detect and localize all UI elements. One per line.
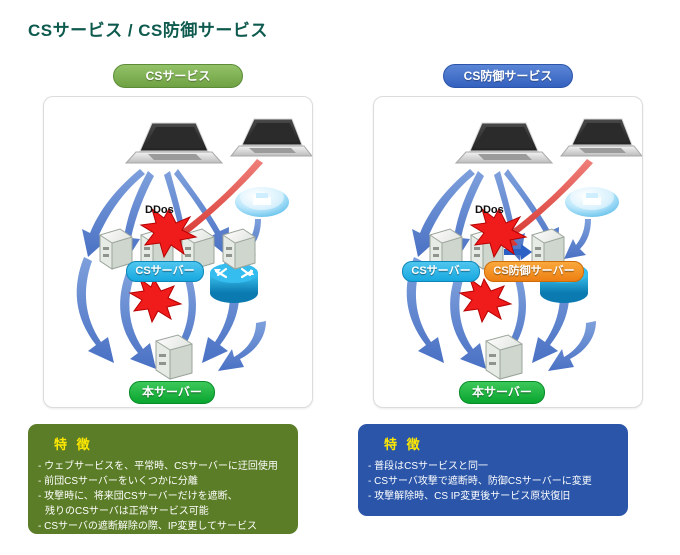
feature-list-cs-service: - ウェブサービスを、平常時、CSサーバーに迂回使用 - 前団CSサーバーをいく… bbox=[38, 459, 288, 534]
network-cloud-icon bbox=[235, 184, 289, 217]
client-laptop-normal bbox=[456, 123, 552, 163]
main-server-label: 本サーバー bbox=[459, 381, 545, 404]
feature-item: - 前団CSサーバーをいくつかに分離 bbox=[38, 474, 288, 489]
feature-title: 特 徴 bbox=[384, 434, 618, 453]
ddos-label: DDos bbox=[145, 204, 174, 216]
ddos-burst-lower bbox=[460, 279, 511, 322]
network-cloud-icon bbox=[565, 184, 619, 217]
panel-header-cs-service: CSサービス bbox=[113, 64, 243, 88]
feature-item: 残りのCSサーバは正常サービス可能 bbox=[38, 504, 288, 519]
feature-item: - 普段はCSサービスと同一 bbox=[368, 459, 618, 474]
ddos-label: DDos bbox=[475, 204, 504, 216]
attacker-laptop bbox=[561, 119, 642, 156]
client-laptop-normal bbox=[126, 123, 222, 163]
feature-item: - 攻撃時に、将来団CSサーバーだけを遮断、 bbox=[38, 489, 288, 504]
panel-cs-service: CSサービス bbox=[28, 64, 328, 408]
main-server-icon bbox=[156, 335, 192, 379]
feature-box-cs-defense-service: 特 徴 - 普段はCSサービスと同一 - CSサーバ攻撃で遮断時、防御CSサーバ… bbox=[358, 424, 628, 516]
panel-header-cs-defense-service: CS防御サービス bbox=[443, 64, 573, 88]
feature-item: - ウェブサービスを、平常時、CSサーバーに迂回使用 bbox=[38, 459, 288, 474]
feature-list-cs-defense-service: - 普段はCSサービスと同一 - CSサーバ攻撃で遮断時、防御CSサーバーに変更… bbox=[368, 459, 618, 504]
main-server-label: 本サーバー bbox=[129, 381, 215, 404]
feature-item: - CSサーバ攻撃で遮断時、防御CSサーバーに変更 bbox=[368, 474, 618, 489]
cs-defense-server-label: CS防御サーバー bbox=[484, 261, 584, 282]
server-stack bbox=[223, 229, 255, 269]
feature-title: 特 徴 bbox=[54, 434, 288, 453]
feature-item: - CSサーバの遮断解除の際、IP変更してサービス bbox=[38, 519, 288, 534]
ddos-burst-lower bbox=[130, 279, 181, 322]
cs-server-label: CSサーバー bbox=[126, 261, 204, 282]
cs-server-label: CSサーバー bbox=[402, 261, 480, 282]
feature-item: - 攻撃解除時、CS IP変更後サービス原状復旧 bbox=[368, 489, 618, 504]
router-icon bbox=[210, 263, 258, 303]
main-server-icon bbox=[486, 335, 522, 379]
diagram-cs-defense-service: DDos CSサーバー CS防御サーバー 本サーバー bbox=[373, 96, 643, 408]
server-stack bbox=[100, 229, 132, 269]
diagram-graphics-left bbox=[44, 97, 312, 407]
diagram-graphics-right bbox=[374, 97, 642, 407]
feature-box-cs-service: 特 徴 - ウェブサービスを、平常時、CSサーバーに迂回使用 - 前団CSサーバ… bbox=[28, 424, 298, 534]
panel-cs-defense-service: CS防御サービス bbox=[358, 64, 658, 408]
page-title: CSサービス / CS防御サービス bbox=[28, 16, 268, 41]
diagram-cs-service: DDos CSサーバー 本サーバー bbox=[43, 96, 313, 408]
attacker-laptop bbox=[231, 119, 312, 156]
cloud-to-router-arrow bbox=[564, 219, 591, 259]
